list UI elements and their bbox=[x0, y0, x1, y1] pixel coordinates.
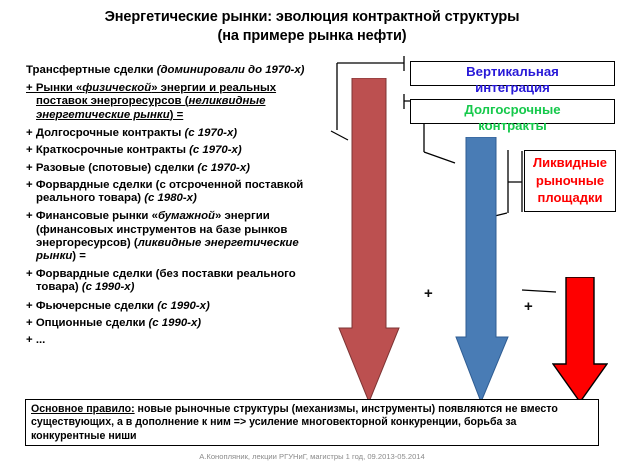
label-box-vertical-integration[interactable]: Вертикальная интеграция bbox=[410, 61, 615, 86]
label-box-text: Вертикальная интеграция bbox=[411, 64, 614, 95]
item-emphasis: бумажной bbox=[158, 210, 215, 222]
item-period: (с 1980-х) bbox=[144, 192, 197, 204]
lm-line-2: рыночные bbox=[536, 173, 604, 188]
list-item: + Фьючерсные сделки (с 1990-х) bbox=[26, 300, 326, 313]
item-period: (с 1970-х) bbox=[189, 144, 242, 156]
slide-canvas: Энергетические рынки: эволюция контрактн… bbox=[0, 0, 624, 468]
lt-line-1: Долгосрочные bbox=[464, 102, 560, 117]
item-label: + Рынки « bbox=[26, 82, 82, 94]
label-box-text: Долгосрочные контракты bbox=[411, 102, 614, 133]
item-label-3: ) = bbox=[170, 109, 184, 121]
arrow-transfer-to-physical bbox=[338, 78, 400, 403]
item-label: + Опционные сделки bbox=[26, 317, 149, 329]
item-period: (с 1990-х) bbox=[82, 281, 135, 293]
label-box-text: Ликвидные рыночные площадки bbox=[525, 154, 615, 207]
list-item: + ... bbox=[26, 334, 326, 347]
title-line-1: Энергетические рынки: эволюция контрактн… bbox=[0, 8, 624, 27]
list-item: + Долгосрочные контракты (с 1970-х) bbox=[26, 127, 326, 140]
list-item: + Опционные сделки (с 1990-х) bbox=[26, 317, 326, 330]
slide-footer: А.Конопляник, лекции РГУНиГ, магистры 1 … bbox=[0, 452, 624, 461]
item-label: + Долгосрочные контракты bbox=[26, 127, 185, 139]
list-item: + Форвардные сделки (с отсроченной поста… bbox=[26, 179, 326, 205]
item-period: (с 1970-х) bbox=[197, 162, 250, 174]
lm-line-3: площадки bbox=[538, 190, 603, 205]
title-line-2: (на примере рынка нефти) bbox=[0, 27, 624, 46]
plus-sign-2: + bbox=[524, 299, 533, 314]
label-box-long-term-contracts[interactable]: Долгосрочные контракты bbox=[410, 99, 615, 124]
list-item: + Краткосрочные контракты (с 1970-х) bbox=[26, 144, 326, 157]
list-item: + Рынки «физической» энергии и реальных … bbox=[26, 82, 326, 122]
item-period: (с 1990-х) bbox=[149, 317, 202, 329]
list-item: + Разовые (спотовые) сделки (с 1970-х) bbox=[26, 162, 326, 175]
item-label: Трансфертные сделки bbox=[26, 64, 157, 76]
main-rule-note: Основное правило: новые рыночные структу… bbox=[25, 399, 599, 446]
list-item: Трансфертные сделки (доминировали до 197… bbox=[26, 64, 326, 77]
plus-sign-1: + bbox=[424, 286, 433, 301]
item-label: + ... bbox=[26, 334, 45, 346]
item-period: (с 1990-х) bbox=[157, 300, 210, 312]
item-label: + Финансовые рынки « bbox=[26, 210, 158, 222]
item-label: + Фьючерсные сделки bbox=[26, 300, 157, 312]
item-period: (с 1970-х) bbox=[185, 127, 238, 139]
list-item: + Финансовые рынки «бумажной» энергии (ф… bbox=[26, 210, 326, 263]
item-period: (доминировали до 1970-х) bbox=[157, 64, 305, 76]
arrow-long-term-contracts bbox=[455, 137, 509, 403]
label-box-liquid-market-platforms[interactable]: Ликвидные рыночные площадки bbox=[524, 150, 616, 212]
lt-line-2: контракты bbox=[478, 118, 547, 133]
item-label: + Разовые (спотовые) сделки bbox=[26, 162, 197, 174]
arrow-liquid-markets bbox=[552, 277, 608, 403]
vi-line-1: Вертикальная bbox=[466, 64, 559, 79]
item-label: + Форвардные сделки (без поставки реальн… bbox=[26, 268, 296, 293]
item-label-3: ) = bbox=[72, 250, 86, 262]
item-label: + Краткосрочные контракты bbox=[26, 144, 189, 156]
list-item: + Форвардные сделки (без поставки реальн… bbox=[26, 268, 326, 294]
contract-evolution-list: Трансфертные сделки (доминировали до 197… bbox=[26, 64, 326, 352]
item-emphasis: физической bbox=[82, 82, 151, 94]
vi-line-2: интеграция bbox=[475, 80, 550, 95]
page-title: Энергетические рынки: эволюция контрактн… bbox=[0, 8, 624, 46]
lm-line-1: Ликвидные bbox=[533, 155, 607, 170]
note-lead: Основное правило: bbox=[31, 403, 135, 415]
